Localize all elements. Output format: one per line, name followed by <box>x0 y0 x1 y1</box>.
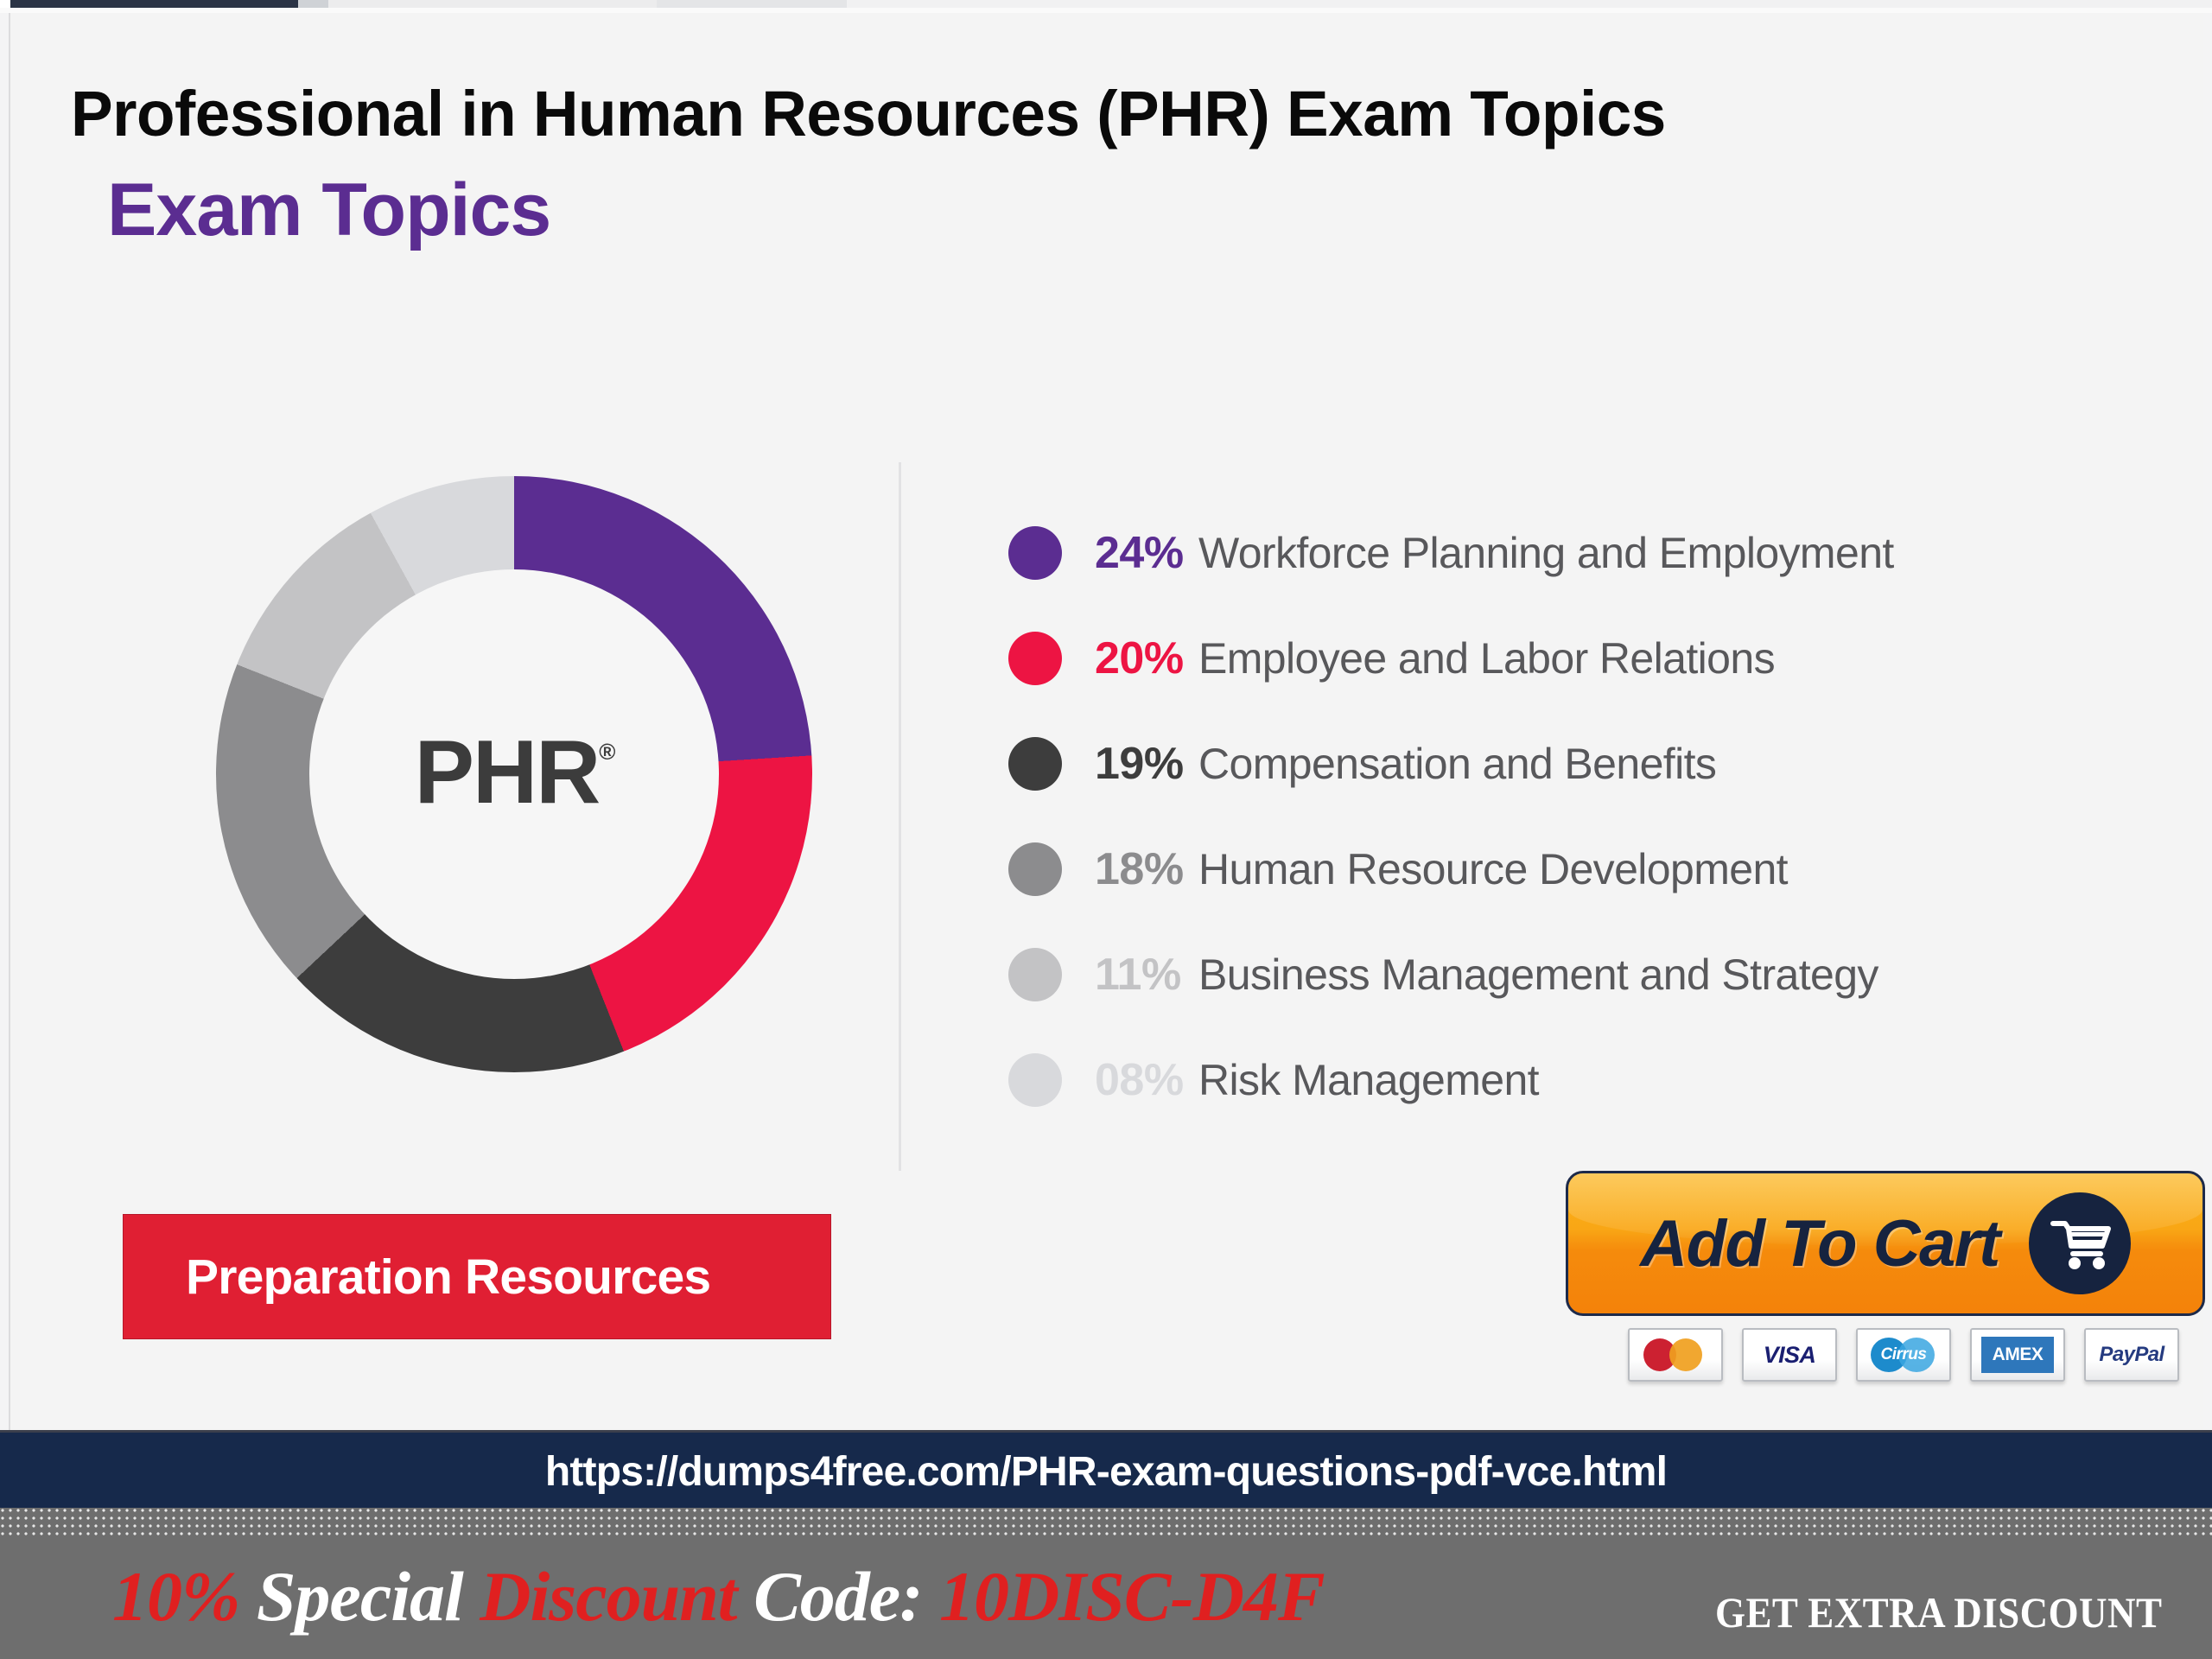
cirrus-label: Cirrus <box>1871 1345 1936 1364</box>
add-to-cart-button[interactable]: Add To Cart <box>1566 1171 2205 1316</box>
legend-percent: 24% <box>1095 531 1198 575</box>
legend-label: Human Resource Development <box>1198 848 1788 891</box>
legend-swatch-icon <box>1008 1053 1062 1107</box>
amex-label: AMEX <box>1993 1344 2044 1365</box>
content-card: Professional in Human Resources (PHR) Ex… <box>9 13 2203 1430</box>
legend-percent: 19% <box>1095 741 1198 786</box>
legend-swatch-icon <box>1008 526 1062 580</box>
discount-footer: 10% Special Discount Code: 10DISC-D4F GE… <box>0 1537 2212 1659</box>
visa-label: VISA <box>1764 1344 1816 1367</box>
legend-item: 20%Employee and Labor Relations <box>1008 606 2201 711</box>
legend-item: 08%Risk Management <box>1008 1027 2201 1133</box>
discount-special-word: Special <box>257 1557 463 1636</box>
page-title: Professional in Human Resources (PHR) Ex… <box>71 80 2139 148</box>
legend-label: Risk Management <box>1198 1058 1539 1102</box>
cirrus-icon: Cirrus <box>1856 1328 1951 1382</box>
payment-methods: VISA Cirrus AMEX PayPal <box>1628 1328 2179 1382</box>
donut-chart: PHR® <box>216 476 812 1072</box>
shopping-cart-icon <box>2029 1192 2131 1294</box>
donut-center: PHR® <box>309 569 719 979</box>
mastercard-icon <box>1628 1328 1723 1382</box>
chart-legend: 24%Workforce Planning and Employment20%E… <box>1008 500 2201 1133</box>
legend-percent: 11% <box>1095 952 1198 997</box>
legend-swatch-icon <box>1008 948 1062 1001</box>
discount-word: Discount <box>480 1557 736 1636</box>
cirrus-circles: Cirrus <box>1871 1338 1936 1372</box>
legend-label: Workforce Planning and Employment <box>1198 531 1894 575</box>
donut-center-label: PHR® <box>415 728 614 817</box>
legend-item: 11%Business Management and Strategy <box>1008 922 2201 1027</box>
legend-percent: 18% <box>1095 847 1198 892</box>
visa-icon: VISA <box>1742 1328 1837 1382</box>
get-extra-discount-link[interactable]: GET EXTRA DISCOUNT <box>1715 1587 2162 1637</box>
legend-label: Employee and Labor Relations <box>1198 637 1775 680</box>
legend-swatch-icon <box>1008 632 1062 685</box>
discount-code-label: Code: <box>753 1557 922 1636</box>
cut-off-toolbar-sliver <box>0 0 2212 8</box>
vertical-divider <box>899 462 901 1171</box>
paypal-icon: PayPal <box>2084 1328 2179 1382</box>
mastercard-circles <box>1643 1338 1707 1371</box>
legend-item: 24%Workforce Planning and Employment <box>1008 500 2201 606</box>
section-heading: Exam Topics <box>107 173 550 247</box>
donut-center-text: PHR <box>415 722 600 823</box>
discount-percent: 10% <box>112 1557 239 1636</box>
amex-icon: AMEX <box>1970 1328 2065 1382</box>
preparation-resources-button[interactable]: Preparation Resources <box>123 1214 831 1339</box>
url-banner: https://dumps4free.com/PHR-exam-question… <box>0 1430 2212 1510</box>
registered-trademark-icon: ® <box>599 739 613 765</box>
dotted-separator <box>0 1508 2212 1537</box>
paypal-label: PayPal <box>2099 1344 2164 1365</box>
legend-percent: 20% <box>1095 636 1198 681</box>
legend-swatch-icon <box>1008 737 1062 791</box>
legend-swatch-icon <box>1008 842 1062 896</box>
amex-box: AMEX <box>1981 1337 2054 1373</box>
legend-percent: 08% <box>1095 1058 1198 1103</box>
page-root: Professional in Human Resources (PHR) Ex… <box>0 0 2212 1659</box>
discount-message: 10% Special Discount Code: 10DISC-D4F <box>112 1554 1325 1639</box>
legend-label: Business Management and Strategy <box>1198 953 1878 996</box>
url-text[interactable]: https://dumps4free.com/PHR-exam-question… <box>545 1448 1667 1496</box>
legend-item: 18%Human Resource Development <box>1008 817 2201 922</box>
preparation-resources-label: Preparation Resources <box>124 1249 710 1306</box>
add-to-cart-label: Add To Cart <box>1640 1206 1999 1281</box>
discount-code-value: 10DISC-D4F <box>939 1557 1325 1636</box>
legend-item: 19%Compensation and Benefits <box>1008 711 2201 817</box>
legend-label: Compensation and Benefits <box>1198 742 1716 785</box>
